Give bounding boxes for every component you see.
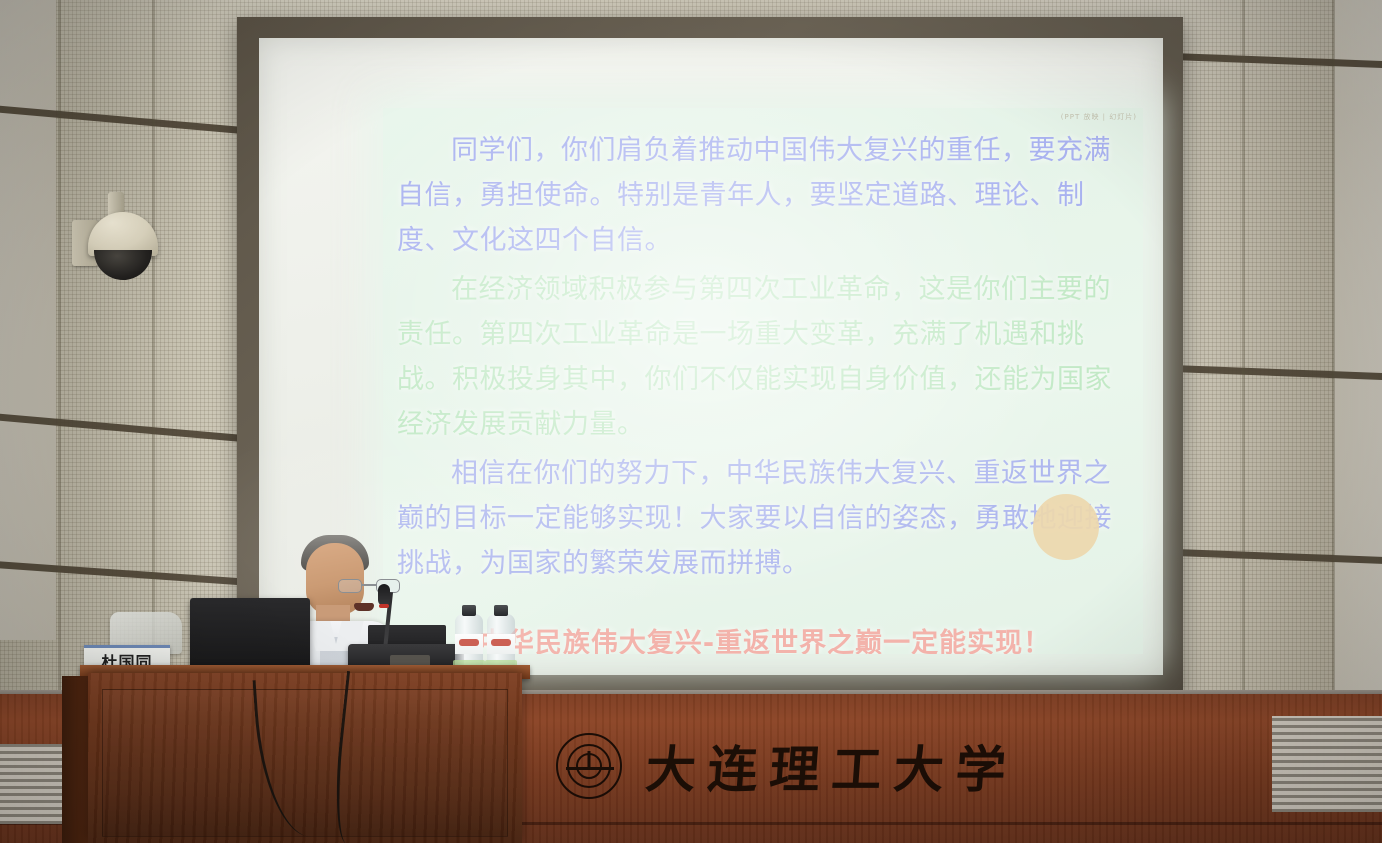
seal-tick [588, 751, 591, 767]
lecture-hall-scene: (PPT 放映 | 幻灯片) 同学们，你们肩负着推动中国伟大复兴的重任，要充满自… [0, 0, 1382, 843]
bottle-label [455, 634, 483, 654]
projected-slide: (PPT 放映 | 幻灯片) 同学们，你们肩负着推动中国伟大复兴的重任，要充满自… [383, 108, 1143, 654]
university-name-text: 大连理工大学 [643, 730, 1020, 802]
slide-header-text: (PPT 放映 | 幻灯片) [1061, 112, 1137, 122]
slide-body: 同学们，你们肩负着推动中国伟大复兴的重任，要充满自信，勇担使命。特别是青年人，要… [397, 128, 1133, 654]
microphone-head-icon [378, 584, 390, 606]
glasses-bridge [362, 584, 376, 586]
seal-bar [566, 767, 614, 770]
slide-decoration-circle [1033, 494, 1099, 560]
slide-paragraph-1: 同学们，你们肩负着推动中国伟大复兴的重任，要充满自信，勇担使命。特别是青年人，要… [397, 128, 1133, 263]
eyeglasses-icon [338, 579, 400, 593]
security-camera-icon [72, 192, 164, 280]
bottle-label [487, 634, 515, 654]
university-seal-icon [556, 733, 622, 799]
wall-vent-grille [1272, 716, 1382, 812]
speaker-mouth [354, 603, 374, 611]
bottle-cap [494, 605, 508, 616]
slide-paragraph-2: 在经济领域积极参与第四次工业革命，这是你们主要的责任。第四次工业革命是一场重大变… [397, 267, 1133, 447]
university-branding: 大连理工大学 [556, 730, 1018, 802]
microphone-indicator-ring [379, 604, 389, 608]
glasses-lens-left [338, 579, 362, 593]
slide-paragraph-3: 相信在你们的努力下，中华民族伟大复兴、重返世界之巅的目标一定能够实现！大家要以自… [397, 451, 1133, 586]
camera-dome-lens [94, 250, 152, 280]
bottle-cap [462, 605, 476, 616]
